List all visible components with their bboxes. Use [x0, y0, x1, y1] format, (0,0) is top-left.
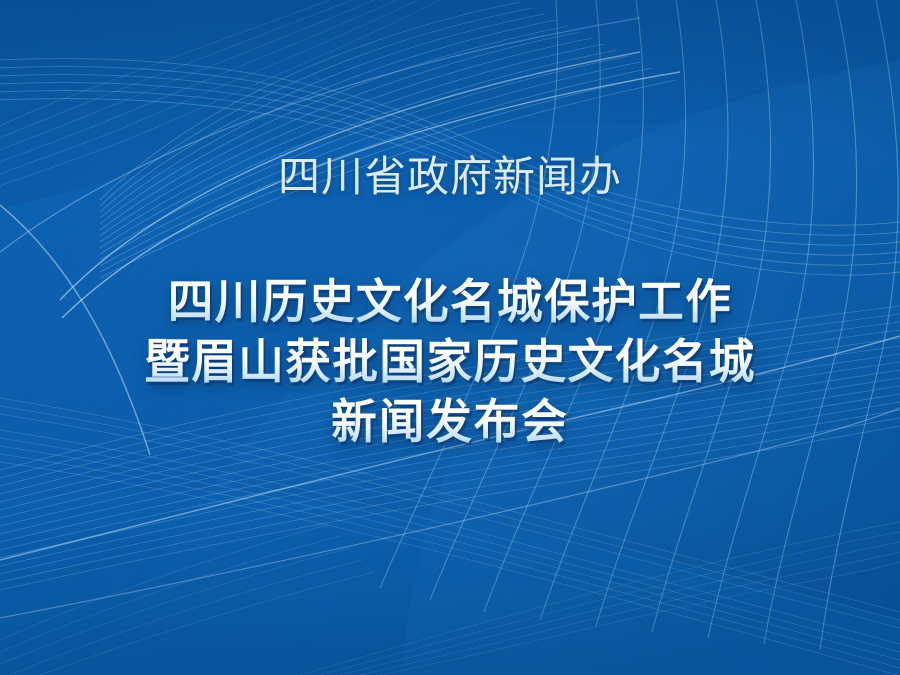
press-conference-slide: 四川省政府新闻办 四川历史文化名城保护工作 暨眉山获批国家历史文化名城 新闻发布…: [0, 0, 900, 675]
title-line-3: 新闻发布会: [14, 392, 887, 452]
title-line-1: 四川历史文化名城保护工作: [14, 272, 887, 332]
organization-label: 四川省政府新闻办: [0, 152, 900, 202]
slide-content: 四川省政府新闻办 四川历史文化名城保护工作 暨眉山获批国家历史文化名城 新闻发布…: [0, 0, 900, 675]
title-line-2: 暨眉山获批国家历史文化名城: [14, 332, 887, 392]
page-title: 四川历史文化名城保护工作 暨眉山获批国家历史文化名城 新闻发布会: [0, 272, 900, 452]
